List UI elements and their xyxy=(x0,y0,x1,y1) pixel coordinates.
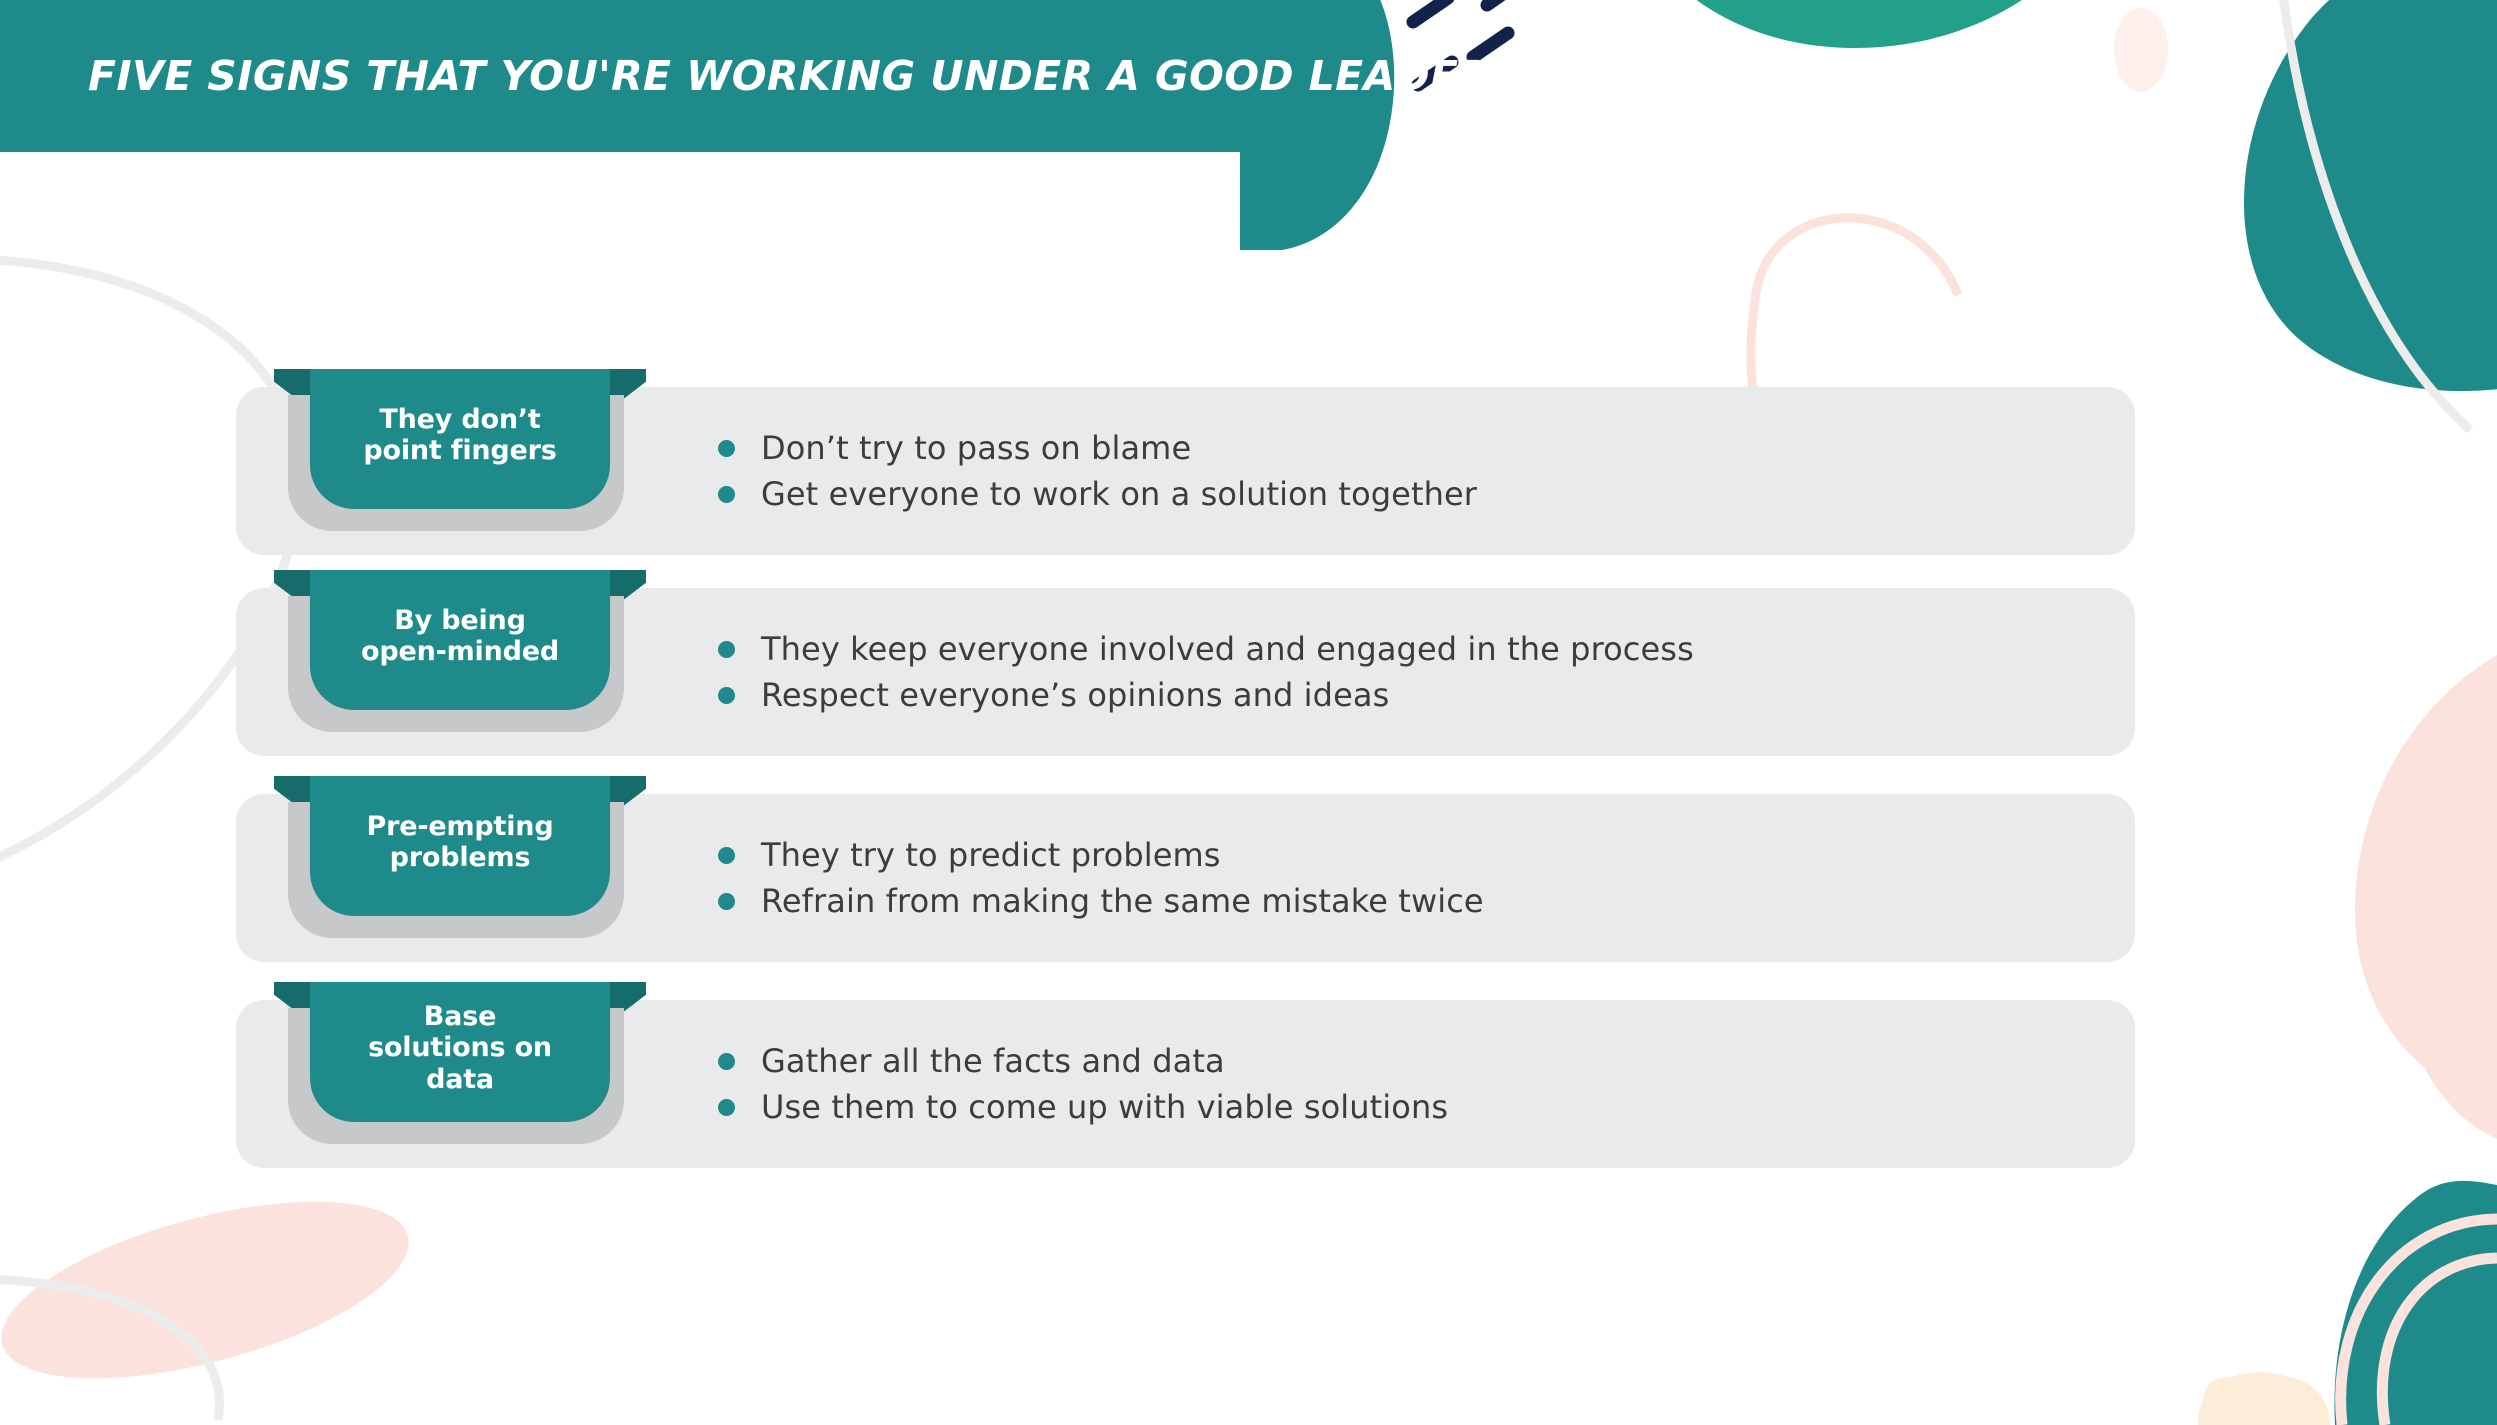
bullet-text: Refrain from making the same mistake twi… xyxy=(761,882,1484,920)
row-badge[interactable]: They don’t point fingers xyxy=(274,369,646,531)
bullet-dot-icon xyxy=(718,687,735,704)
list-item: They try to predict problems xyxy=(718,832,1484,878)
badge-body: By being open-minded xyxy=(310,570,610,710)
bullet-text: They try to predict problems xyxy=(761,836,1221,874)
bullet-dot-icon xyxy=(718,486,735,503)
bullet-dot-icon xyxy=(718,641,735,658)
badge-label-line: open-minded xyxy=(361,636,559,667)
badge-label-line: Base xyxy=(424,1001,496,1032)
content-row: By being open-minded They keep everyone … xyxy=(236,588,2135,756)
list-item: They keep everyone involved and engaged … xyxy=(718,626,1694,672)
bullet-list: Don’t try to pass on blame Get everyone … xyxy=(718,387,1477,555)
row-badge[interactable]: By being open-minded xyxy=(274,570,646,732)
slide-canvas: FIVE SIGNS THAT YOU'RE WORKING UNDER A G… xyxy=(0,0,2497,1425)
badge-label-line: problems xyxy=(390,842,531,873)
header-banner: FIVE SIGNS THAT YOU'RE WORKING UNDER A G… xyxy=(0,0,1353,152)
badge-label-line: By being xyxy=(394,605,525,636)
badge-label-line: point fingers xyxy=(363,435,556,466)
badge-body: Pre-empting problems xyxy=(310,776,610,916)
bullet-text: Don’t try to pass on blame xyxy=(761,429,1191,467)
list-item: Use them to come up with viable solution… xyxy=(718,1084,1448,1130)
content-row: Pre-empting problems They try to predict… xyxy=(236,794,2135,962)
bullet-list: They keep everyone involved and engaged … xyxy=(718,588,1694,756)
page-title: FIVE SIGNS THAT YOU'RE WORKING UNDER A G… xyxy=(88,0,1491,152)
badge-label: They don’t point fingers xyxy=(363,404,556,467)
badge-label: Pre-empting problems xyxy=(367,811,554,874)
badge-body: They don’t point fingers xyxy=(310,369,610,509)
badge-label-line: data xyxy=(426,1064,494,1095)
list-item: Get everyone to work on a solution toget… xyxy=(718,471,1477,517)
bullet-list: Gather all the facts and data Use them t… xyxy=(718,1000,1448,1168)
bullet-list: They try to predict problems Refrain fro… xyxy=(718,794,1484,962)
badge-label: Base solutions on data xyxy=(368,1001,552,1095)
bullet-text: Use them to come up with viable solution… xyxy=(761,1088,1448,1126)
badge-label-line: Pre-empting xyxy=(367,811,554,842)
bullet-text: Get everyone to work on a solution toget… xyxy=(761,475,1477,513)
list-item: Gather all the facts and data xyxy=(718,1038,1448,1084)
content-row: They don’t point fingers Don’t try to pa… xyxy=(236,387,2135,555)
list-item: Respect everyone’s opinions and ideas xyxy=(718,672,1694,718)
list-item: Refrain from making the same mistake twi… xyxy=(718,878,1484,924)
bullet-dot-icon xyxy=(718,1053,735,1070)
bullet-dot-icon xyxy=(718,893,735,910)
bullet-text: Gather all the facts and data xyxy=(761,1042,1225,1080)
bullet-dot-icon xyxy=(718,847,735,864)
content-rows: They don’t point fingers Don’t try to pa… xyxy=(0,0,2497,1425)
bullet-dot-icon xyxy=(718,440,735,457)
bullet-text: Respect everyone’s opinions and ideas xyxy=(761,676,1389,714)
badge-label: By being open-minded xyxy=(361,605,559,668)
row-badge[interactable]: Pre-empting problems xyxy=(274,776,646,938)
list-item: Don’t try to pass on blame xyxy=(718,425,1477,471)
bullet-text: They keep everyone involved and engaged … xyxy=(761,630,1694,668)
row-badge[interactable]: Base solutions on data xyxy=(274,982,646,1144)
content-row: Base solutions on data Gather all the fa… xyxy=(236,1000,2135,1168)
badge-body: Base solutions on data xyxy=(310,982,610,1122)
badge-label-line: solutions on xyxy=(368,1032,552,1063)
bullet-dot-icon xyxy=(718,1099,735,1116)
badge-label-line: They don’t xyxy=(379,404,540,435)
